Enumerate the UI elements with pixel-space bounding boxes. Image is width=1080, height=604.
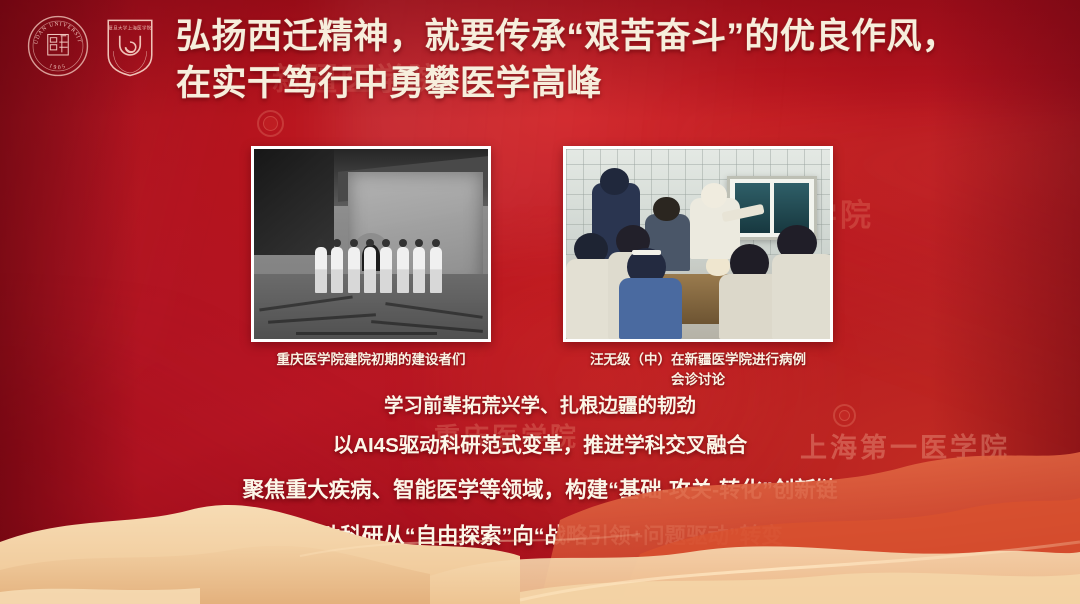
caption-line-2: 会诊讨论	[563, 370, 833, 390]
svg-text:复旦大学上海医学院: 复旦大学上海医学院	[108, 24, 151, 31]
title-line-2: 在实干笃行中勇攀医学高峰	[176, 61, 1066, 108]
title-line-1: 弘扬西迁精神，就要传承“艰苦奋斗”的优良作风，	[176, 17, 958, 56]
body-line-1: 学习前辈拓荒兴学、扎根边疆的韧劲	[0, 392, 1080, 421]
mountain-decoration	[0, 424, 1080, 604]
photo-frame	[251, 146, 491, 342]
caption-line-1: 汪无级（中）在新疆医学院进行病例	[563, 350, 833, 370]
slide-title: 弘扬西迁精神，就要传承“艰苦奋斗”的优良作风， 在实干笃行中勇攀医学高峰	[176, 14, 1066, 107]
shanghai-medical-college-shield-icon: 复旦大学上海医学院	[104, 14, 156, 78]
photo-caption-case-discussion: 汪无级（中）在新疆医学院进行病例 会诊讨论	[563, 350, 833, 389]
presentation-slide: 新疆医学院 学院 重庆医学院 上海第一医学院 FUDAN UNIVERSITY …	[0, 0, 1080, 604]
seal-circle-icon	[257, 110, 284, 137]
photo-frame	[563, 146, 833, 342]
photo-block-builders: 重庆医学院建院初期的建设者们	[251, 146, 491, 370]
photo-wang-wuji-case-discussion	[566, 149, 830, 339]
photo-caption-builders: 重庆医学院建院初期的建设者们	[251, 350, 491, 370]
photo-chongqing-medical-college-builders	[254, 149, 488, 339]
photo-block-case-discussion: 汪无级（中）在新疆医学院进行病例 会诊讨论	[563, 146, 833, 389]
fudan-university-seal-icon: FUDAN UNIVERSITY 1905	[26, 14, 90, 78]
logo-group: FUDAN UNIVERSITY 1905 复旦大学上海医学院	[26, 14, 156, 78]
